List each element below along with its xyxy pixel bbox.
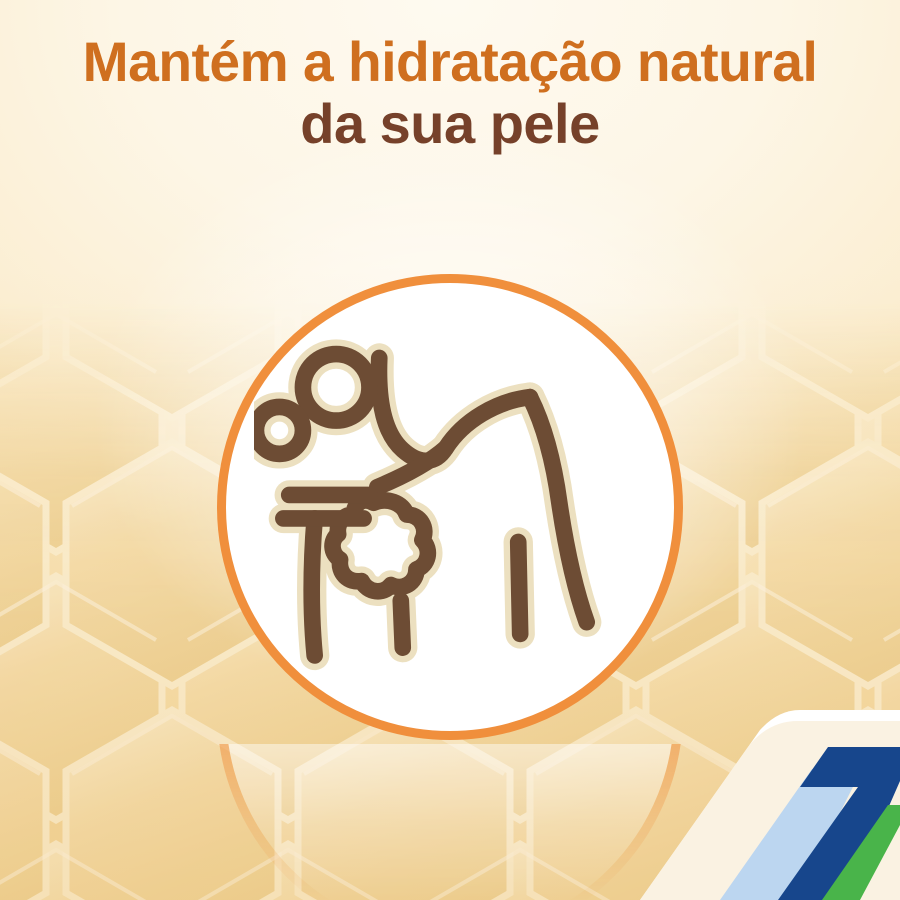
brand-corner-logo <box>600 685 900 900</box>
headline-line-1: Mantém a hidratação natural <box>7 34 894 90</box>
hand-with-soap-foam-icon <box>254 311 645 702</box>
poster-canvas: Mantém a hidratação natural da sua pele <box>0 0 900 900</box>
headline: Mantém a hidratação natural da sua pele <box>0 34 900 152</box>
badge <box>217 274 683 740</box>
headline-line-2: da sua pele <box>0 96 900 152</box>
